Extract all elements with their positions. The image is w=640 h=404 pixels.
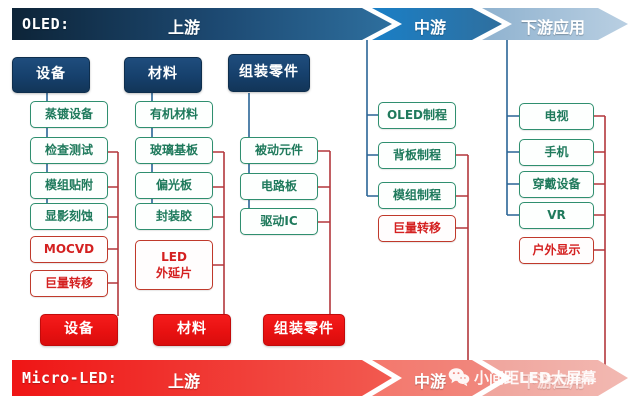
watermark: 小间距LED大屏幕 [448, 366, 596, 388]
footer-label-midstream: 中游 [414, 368, 446, 392]
diagram-root: OLED: 上游 中游 下游应用 Micro-LED: 上游 中游 下游应用 小… [0, 0, 640, 404]
header-prefix-oled: OLED: [22, 15, 70, 33]
header-label-downstream: 下游应用 [521, 14, 585, 38]
footer-prefix-microled: Micro-LED: [22, 369, 117, 387]
footer-label-upstream: 上游 [168, 368, 200, 392]
watermark-text: 小间距LED大屏幕 [474, 367, 596, 388]
wechat-icon [448, 366, 470, 388]
header-label-midstream: 中游 [414, 14, 446, 38]
stage-arrow-bars [0, 0, 640, 404]
header-label-upstream: 上游 [168, 14, 200, 38]
